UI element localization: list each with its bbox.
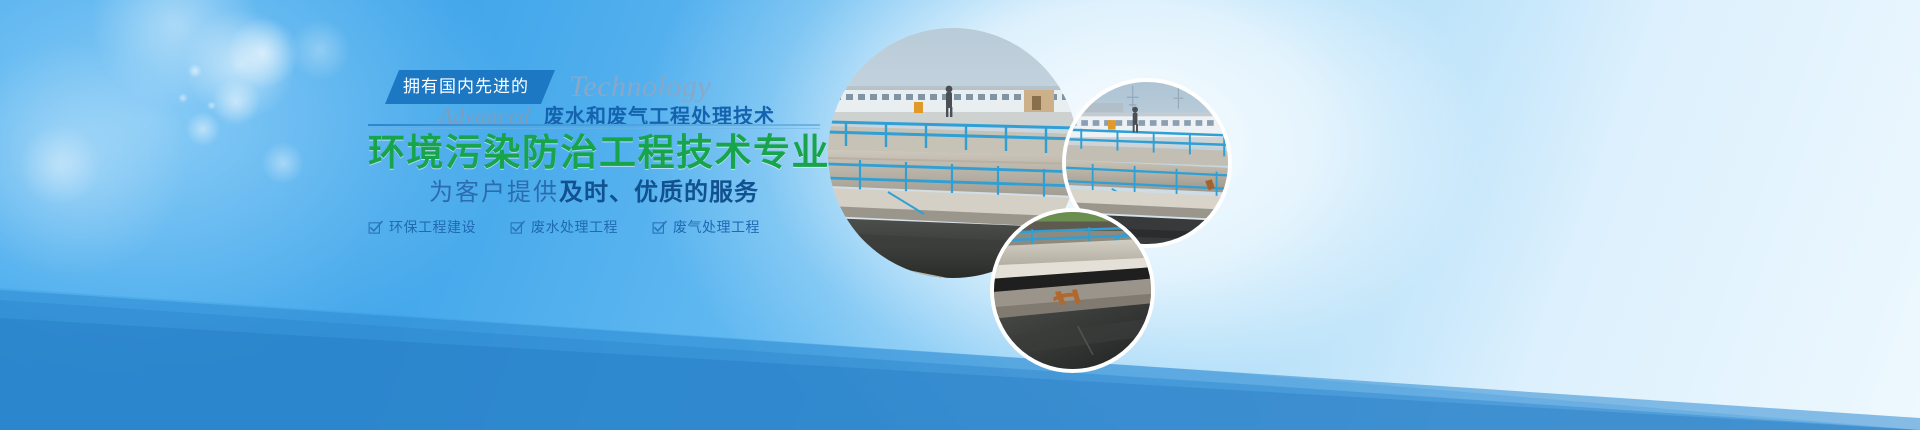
feature-list: 环保工程建设 废水处理工程 废气处理工程 (368, 217, 828, 237)
feature-label: 废水处理工程 (531, 217, 618, 237)
check-box-icon (368, 220, 383, 235)
tech-row: 拥有国内先进的 Technology (385, 70, 711, 104)
check-box-icon (652, 220, 667, 235)
feature-item-0[interactable]: 环保工程建设 (368, 217, 476, 237)
copy-block: 拥有国内先进的 Technology Advanced 废水和废气工程处理技术 … (0, 0, 830, 430)
page-title: 环境污染防治工程技术专业顾问 (368, 131, 820, 175)
feature-item-2[interactable]: 废气处理工程 (652, 217, 760, 237)
service-bold-text: 及时、优质的服务 (559, 179, 759, 206)
feature-label: 废气处理工程 (673, 217, 760, 237)
hero-banner: 拥有国内先进的 Technology Advanced 废水和废气工程处理技术 … (0, 0, 1920, 430)
divider-top (368, 124, 820, 126)
ribbon-tag: 拥有国内先进的 (385, 70, 555, 104)
photo-cluster (800, 0, 1300, 430)
service-line: 为客户提供及时、优质的服务 (368, 172, 820, 207)
photo-water-channel (990, 208, 1155, 373)
technology-word: Technology (569, 70, 711, 104)
service-light-text: 为客户提供 (429, 179, 559, 206)
feature-item-1[interactable]: 废水处理工程 (510, 217, 618, 237)
feature-label: 环保工程建设 (389, 217, 476, 237)
divider-bottom (368, 128, 820, 129)
check-box-icon (510, 220, 525, 235)
